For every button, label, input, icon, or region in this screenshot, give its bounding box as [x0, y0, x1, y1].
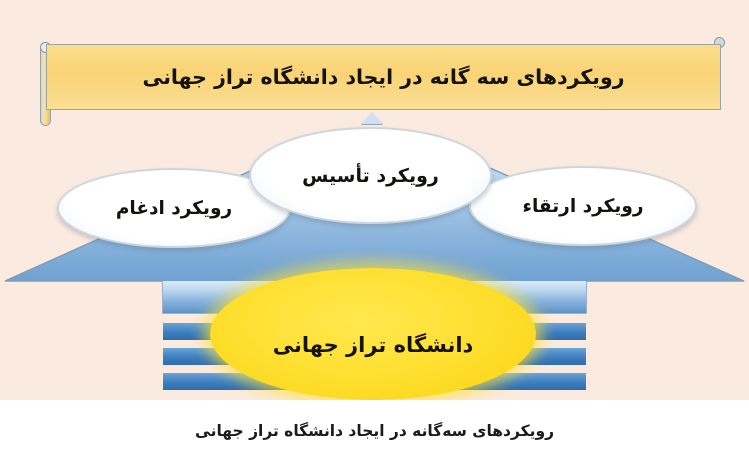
approach-label-erteqa: رویکرد ارتقاء: [523, 196, 644, 217]
approach-node-tasis[interactable]: رویکرد تأسیس: [249, 127, 492, 224]
diagram-canvas: رویکردهای سه گانه در ایجاد دانشگاه تراز …: [0, 0, 749, 400]
figure-page: رویکردهای سه گانه در ایجاد دانشگاه تراز …: [0, 0, 749, 475]
figure-caption-text: رویکردهای سه‌گانه در ایجاد دانشگاه تراز …: [195, 422, 554, 440]
approach-node-erteqa[interactable]: رویکرد ارتقاء: [469, 166, 697, 246]
banner-connector-triangle-icon: [361, 112, 383, 124]
approach-label-edgham: رویکرد ادغام: [116, 198, 232, 219]
goal-node-world-class-university[interactable]: دانشگاه تراز جهانی: [210, 268, 536, 400]
goal-label: دانشگاه تراز جهانی: [273, 333, 474, 357]
banner-title-text: رویکردهای سه گانه در ایجاد دانشگاه تراز …: [142, 65, 624, 89]
figure-caption: رویکردهای سه‌گانه در ایجاد دانشگاه تراز …: [0, 400, 749, 475]
banner-title-box: رویکردهای سه گانه در ایجاد دانشگاه تراز …: [46, 44, 721, 110]
approach-label-tasis: رویکرد تأسیس: [302, 165, 439, 187]
